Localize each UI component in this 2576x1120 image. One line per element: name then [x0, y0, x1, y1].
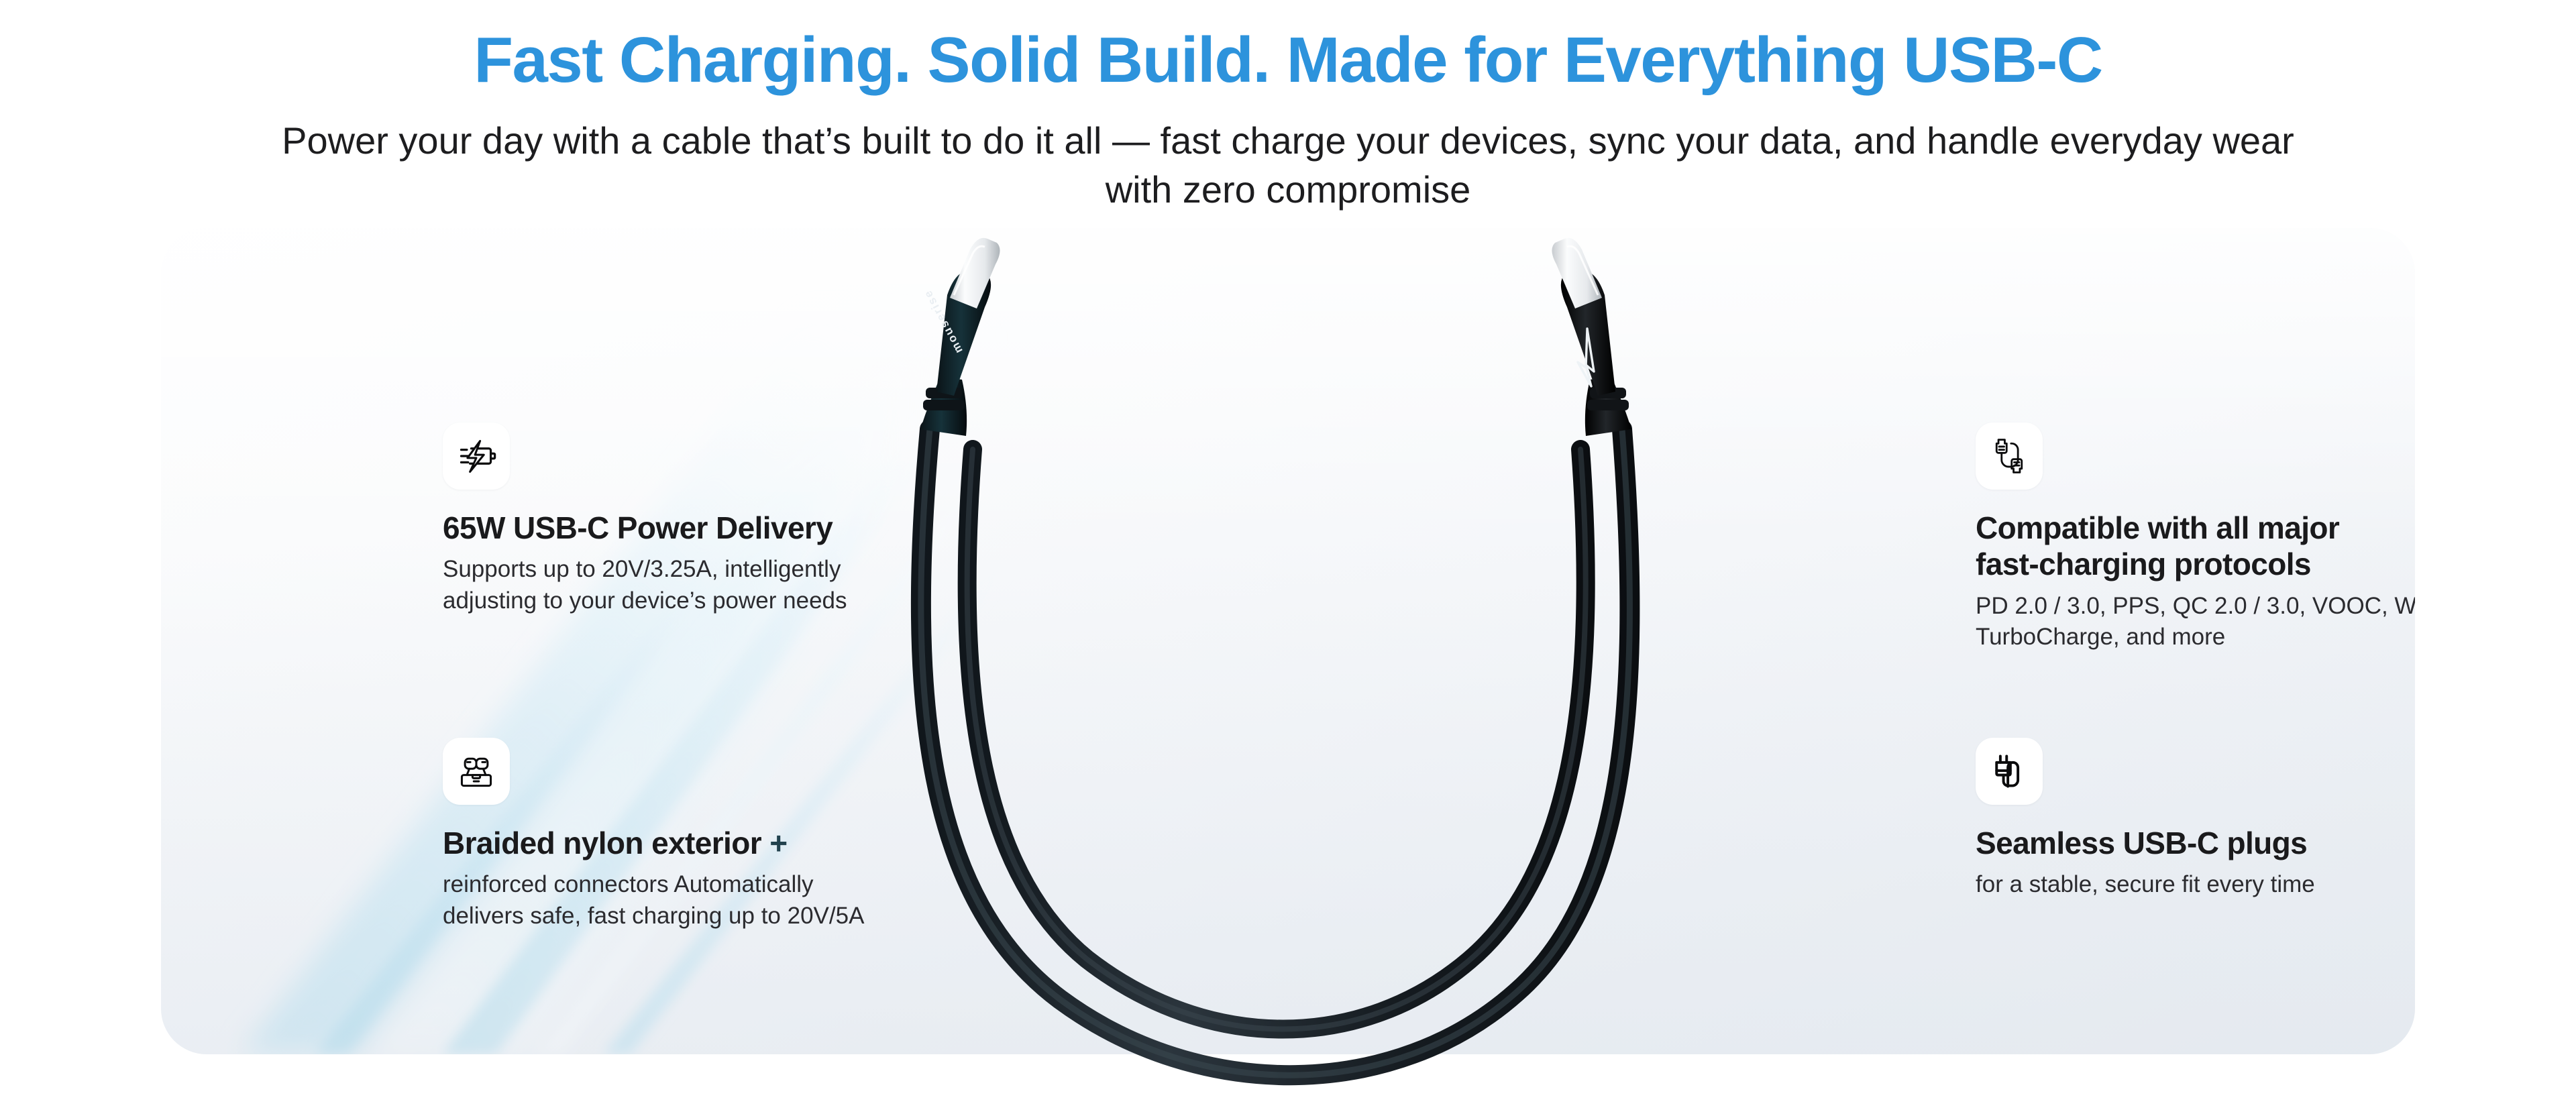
battery-charging-icon-container [443, 423, 510, 490]
earbuds-case-icon [456, 751, 496, 791]
feature-item-seamless-plugs: Seamless USB-C plugs for a stable, secur… [1976, 738, 2415, 901]
feature-description: for a stable, secure fit every time [1976, 869, 2415, 901]
power-plug-cord-icon [1989, 751, 2029, 791]
page-header: Fast Charging. Solid Build. Made for Eve… [0, 0, 2576, 215]
feature-title: Compatible with all major fast-charging … [1976, 510, 2415, 583]
usb-cable-icon [1989, 436, 2029, 476]
power-plug-cord-icon-container [1976, 738, 2043, 805]
feature-item-power-delivery: 65W USB-C Power Delivery Supports up to … [443, 423, 953, 616]
feature-description: reinforced connectors Automatically deli… [443, 869, 953, 932]
feature-item-braided-nylon: Braided nylon exterior + reinforced conn… [443, 738, 953, 932]
usb-cable-icon-container [1976, 423, 2043, 490]
feature-hero-card: 65W USB-C Power Delivery Supports up to … [161, 228, 2415, 1054]
earbuds-case-icon-container [443, 738, 510, 805]
feature-description: PD 2.0 / 3.0, PPS, QC 2.0 / 3.0, VOOC, W… [1976, 591, 2415, 653]
battery-charging-icon [456, 436, 496, 476]
feature-title-text: Braided nylon exterior [443, 826, 769, 860]
feature-title: 65W USB-C Power Delivery [443, 510, 953, 546]
feature-title: Seamless USB-C plugs [1976, 825, 2415, 861]
feature-title-plus-accent: + [769, 826, 787, 860]
feature-description: Supports up to 20V/3.25A, intelligently … [443, 554, 953, 616]
feature-title: Braided nylon exterior + [443, 825, 953, 861]
page-headline: Fast Charging. Solid Build. Made for Eve… [0, 28, 2576, 93]
feature-item-protocols: Compatible with all major fast-charging … [1976, 423, 2415, 653]
page-subheadline: Power your day with a cable that’s built… [282, 117, 2294, 215]
